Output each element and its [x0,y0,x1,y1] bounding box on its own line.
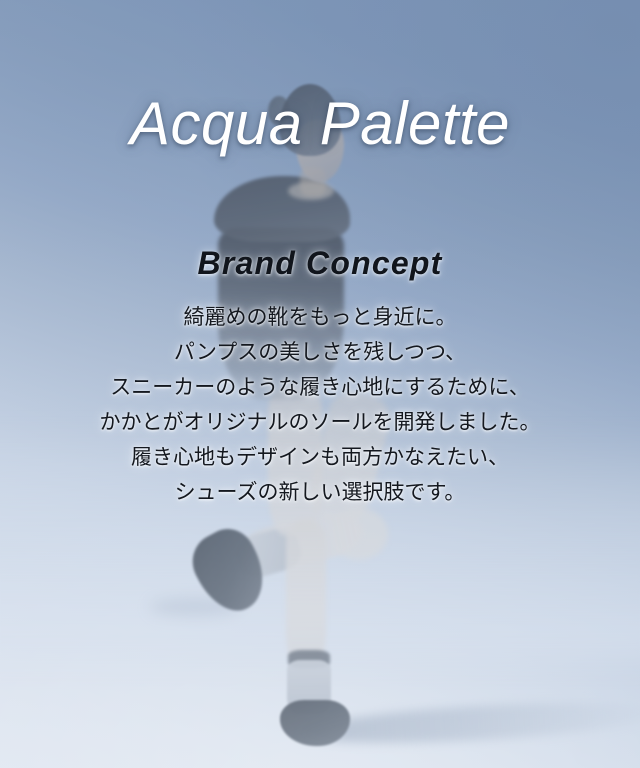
section-title-brand-concept: Brand Concept [0,244,640,282]
concept-line: 綺麗めの靴をもっと身近に。 [18,300,622,335]
concept-line: かかとがオリジナルのソールを開発しました。 [18,405,622,440]
brand-concept-hero: Acqua Palette Brand Concept 綺麗めの靴をもっと身近に… [0,0,640,768]
concept-line: スニーカーのような履き心地にするために、 [18,370,622,405]
brand-title: Acqua Palette [0,92,640,155]
concept-line: シューズの新しい選択肢です。 [18,475,622,510]
concept-line: 履き心地もデザインも両方かなえたい、 [18,440,622,475]
concept-line: パンプスの美しさを残しつつ、 [18,335,622,370]
hero-text-overlay: Acqua Palette Brand Concept 綺麗めの靴をもっと身近に… [0,0,640,768]
brand-concept-paragraph: 綺麗めの靴をもっと身近に。 パンプスの美しさを残しつつ、 スニーカーのような履き… [0,300,640,510]
